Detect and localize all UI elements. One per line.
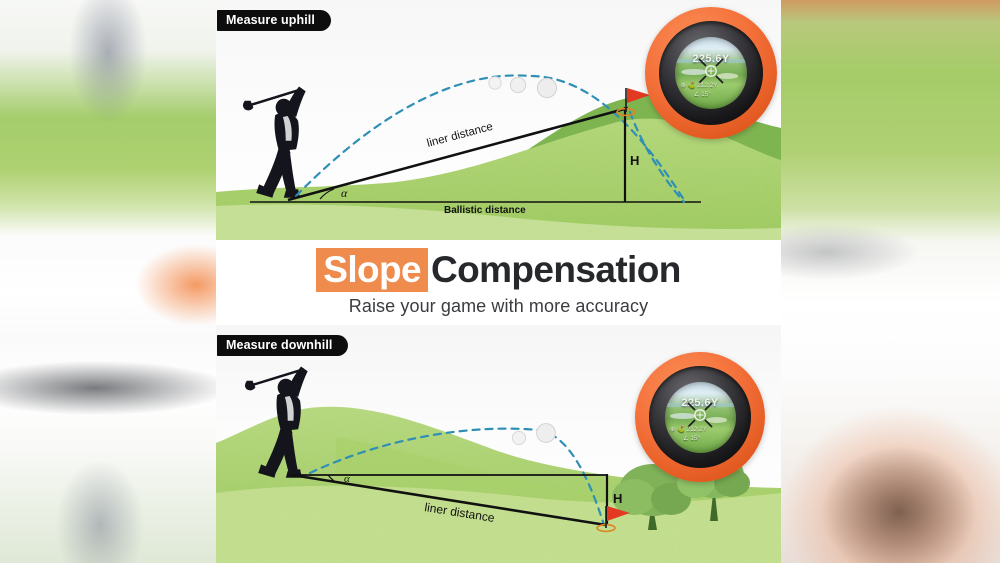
angle-icon-downhill: ∠ bbox=[683, 436, 689, 442]
title-rest: Compensation bbox=[431, 249, 681, 290]
angle-icon: ∠ bbox=[694, 92, 700, 98]
display-angle-value: 15° bbox=[701, 92, 711, 98]
display-slope-value: 212.2Y bbox=[697, 83, 717, 89]
display-angle-readout-downhill: ∠ 15° bbox=[683, 435, 700, 442]
rangefinder-display-downhill: 225.6Y ⊕ ⛳ 212.2Y bbox=[665, 382, 736, 453]
rangefinder-eyepiece: 225.6Y ⊕ ⛳ 212.2Y bbox=[659, 21, 763, 125]
slope-icon-downhill: ⊕ ⛳ bbox=[670, 427, 685, 433]
display-angle-readout: ∠ 15° bbox=[694, 91, 711, 98]
rangefinder-device-downhill[interactable]: 225.6Y ⊕ ⛳ 212.2Y bbox=[635, 352, 765, 482]
infographic-content: α liner distance Ballistic distance H Me… bbox=[216, 0, 781, 563]
pill-measure-uphill: Measure uphill bbox=[217, 10, 331, 31]
panel-measure-uphill: α liner distance Ballistic distance H Me… bbox=[216, 0, 781, 240]
display-slope-readout: ⊕ ⛳ 212.2Y bbox=[681, 82, 718, 89]
screenshot-stage: α liner distance Ballistic distance H Me… bbox=[0, 0, 1000, 563]
label-liner-distance-uphill: liner distance bbox=[426, 121, 495, 150]
display-slope-readout-downhill: ⊕ ⛳ 212.2Y bbox=[670, 426, 707, 433]
reticle-icon bbox=[696, 56, 726, 86]
rangefinder-device-uphill[interactable]: 225.6Y ⊕ ⛳ 212.2Y bbox=[645, 7, 777, 139]
display-slope-value-downhill: 212.2Y bbox=[687, 427, 707, 433]
display-angle-value-downhill: 15° bbox=[690, 436, 700, 442]
slope-icon: ⊕ ⛳ bbox=[681, 83, 696, 89]
golf-ball-group bbox=[489, 77, 557, 98]
pill-measure-downhill: Measure downhill bbox=[217, 335, 348, 356]
title-highlight: Slope bbox=[316, 248, 428, 292]
rangefinder-eyepiece-downhill: 225.6Y ⊕ ⛳ 212.2Y bbox=[649, 366, 751, 468]
blurred-background-left bbox=[0, 0, 217, 563]
rangefinder-display: 225.6Y ⊕ ⛳ 212.2Y bbox=[675, 37, 747, 109]
panel-measure-downhill: α liner distance H Measure downhill 225.… bbox=[216, 325, 781, 563]
banner-slope-compensation: SlopeCompensation Raise your game with m… bbox=[216, 240, 781, 325]
page-title: SlopeCompensation bbox=[216, 240, 781, 290]
page-subtitle: Raise your game with more accuracy bbox=[216, 296, 781, 317]
golfer-figure bbox=[243, 87, 306, 198]
label-angle-uphill: α bbox=[341, 186, 348, 200]
label-height-uphill: H bbox=[630, 153, 639, 168]
golf-ball-group-downhill bbox=[512, 424, 555, 445]
blurred-background-right bbox=[781, 0, 1000, 563]
label-height-downhill: H bbox=[613, 491, 622, 506]
label-angle-downhill: α bbox=[344, 473, 350, 485]
label-ballistic-distance: Ballistic distance bbox=[444, 205, 526, 216]
